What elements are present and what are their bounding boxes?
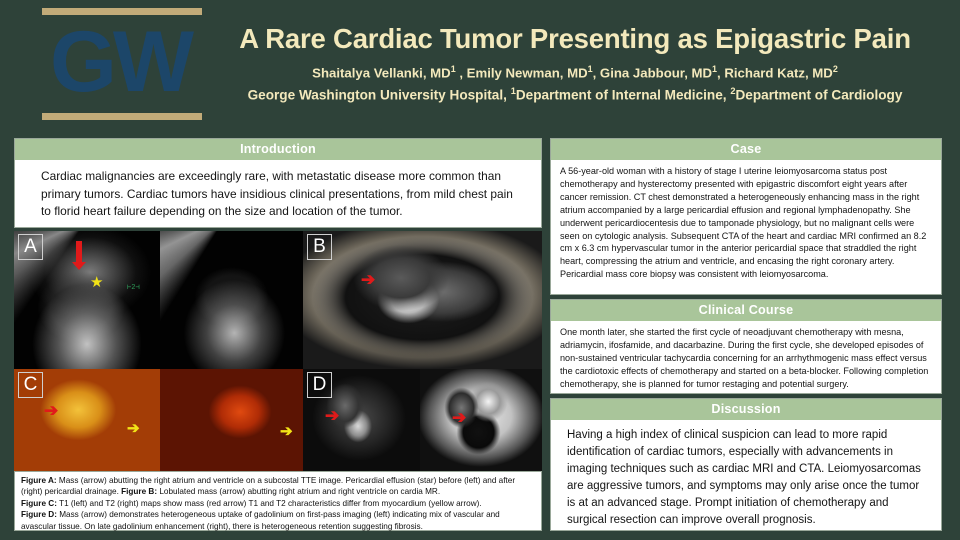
echo-scale-marker: ⊢2⊣ bbox=[127, 283, 140, 292]
section-clinical-course: Clinical Course One month later, she sta… bbox=[550, 299, 942, 394]
figure-caption-line: Figure D: Mass (arrow) demonstrates hete… bbox=[21, 509, 536, 532]
section-body-clinical-course: One month later, she started the first c… bbox=[551, 321, 941, 391]
section-body-case: A 56-year-old woman with a history of st… bbox=[551, 160, 941, 281]
section-introduction: Introduction Cardiac malignancies are ex… bbox=[14, 138, 542, 228]
red-arrow-icon: ➔ bbox=[452, 409, 466, 426]
section-discussion: Discussion Having a high index of clinic… bbox=[550, 398, 942, 531]
figure-panel-d-late: ➔ bbox=[420, 369, 542, 471]
figure-row-top: A ★ ⊢2⊣ B ➔ bbox=[14, 231, 542, 369]
red-arrow-icon bbox=[76, 241, 82, 263]
red-arrow-icon: ➔ bbox=[325, 407, 339, 424]
affiliation-list: George Washington University Hospital, 1… bbox=[196, 82, 954, 105]
section-body-introduction: Cardiac malignancies are exceedingly rar… bbox=[15, 160, 541, 221]
red-arrow-icon: ➔ bbox=[44, 402, 58, 419]
figure-label-d: D bbox=[307, 372, 332, 398]
figure-caption-line: Figure C: T1 (left) and T2 (right) maps … bbox=[21, 498, 536, 509]
yellow-arrow-icon: ➔ bbox=[280, 424, 293, 439]
poster-title: A Rare Cardiac Tumor Presenting as Epiga… bbox=[196, 22, 954, 56]
figure-caption-text: Lobulated mass (arrow) abutting right at… bbox=[157, 487, 440, 496]
figure-caption-bold: Figure A: bbox=[21, 476, 57, 485]
figure-caption-text: Mass (arrow) demonstrates heterogeneous … bbox=[21, 510, 500, 530]
figure-image-grid: A ★ ⊢2⊣ B ➔ C ➔ ➔ ➔ D ➔ bbox=[14, 231, 542, 471]
red-arrow-icon: ➔ bbox=[361, 271, 375, 288]
figure-label-b: B bbox=[307, 234, 332, 260]
figure-panel-a-right bbox=[160, 231, 303, 369]
yellow-arrow-icon: ➔ bbox=[127, 421, 140, 436]
gold-accent-bar-bottom bbox=[42, 113, 202, 120]
section-heading-case: Case bbox=[551, 139, 941, 160]
poster-header: GW A Rare Cardiac Tumor Presenting as Ep… bbox=[0, 0, 960, 132]
section-heading-introduction: Introduction bbox=[15, 139, 541, 160]
figure-caption: Figure A: Mass (arrow) abutting the righ… bbox=[14, 471, 542, 531]
figure-caption-bold: Figure D: bbox=[21, 510, 57, 519]
author-list: Shaitalya Vellanki, MD1 , Emily Newman, … bbox=[196, 60, 954, 82]
figure-label-a: A bbox=[18, 234, 43, 260]
gw-logo: GW bbox=[20, 14, 220, 110]
section-body-discussion: Having a high index of clinical suspicio… bbox=[551, 420, 941, 530]
figure-caption-bold: Figure B: bbox=[121, 487, 157, 496]
section-case: Case A 56-year-old woman with a history … bbox=[550, 138, 942, 295]
figure-caption-text: T1 (left) and T2 (right) maps show mass … bbox=[57, 499, 482, 508]
figure-row-bottom: C ➔ ➔ ➔ D ➔ ➔ bbox=[14, 369, 542, 471]
figure-panel-c-t2: ➔ bbox=[160, 369, 303, 471]
poster-root: GW A Rare Cardiac Tumor Presenting as Ep… bbox=[0, 0, 960, 540]
section-heading-clinical-course: Clinical Course bbox=[551, 300, 941, 321]
figure-panel-b: B ➔ bbox=[303, 231, 542, 369]
title-block: A Rare Cardiac Tumor Presenting as Epiga… bbox=[196, 22, 954, 105]
figure-panel-a-left: A ★ ⊢2⊣ bbox=[14, 231, 160, 369]
figure-caption-line: Figure A: Mass (arrow) abutting the righ… bbox=[21, 475, 536, 498]
figure-caption-bold: Figure C: bbox=[21, 499, 57, 508]
section-heading-discussion: Discussion bbox=[551, 399, 941, 420]
figure-label-c: C bbox=[18, 372, 43, 398]
figure-panel-c-t1: C ➔ ➔ bbox=[14, 369, 160, 471]
figure-panel-d-firstpass: D ➔ bbox=[303, 369, 420, 471]
yellow-star-icon: ★ bbox=[90, 275, 103, 290]
